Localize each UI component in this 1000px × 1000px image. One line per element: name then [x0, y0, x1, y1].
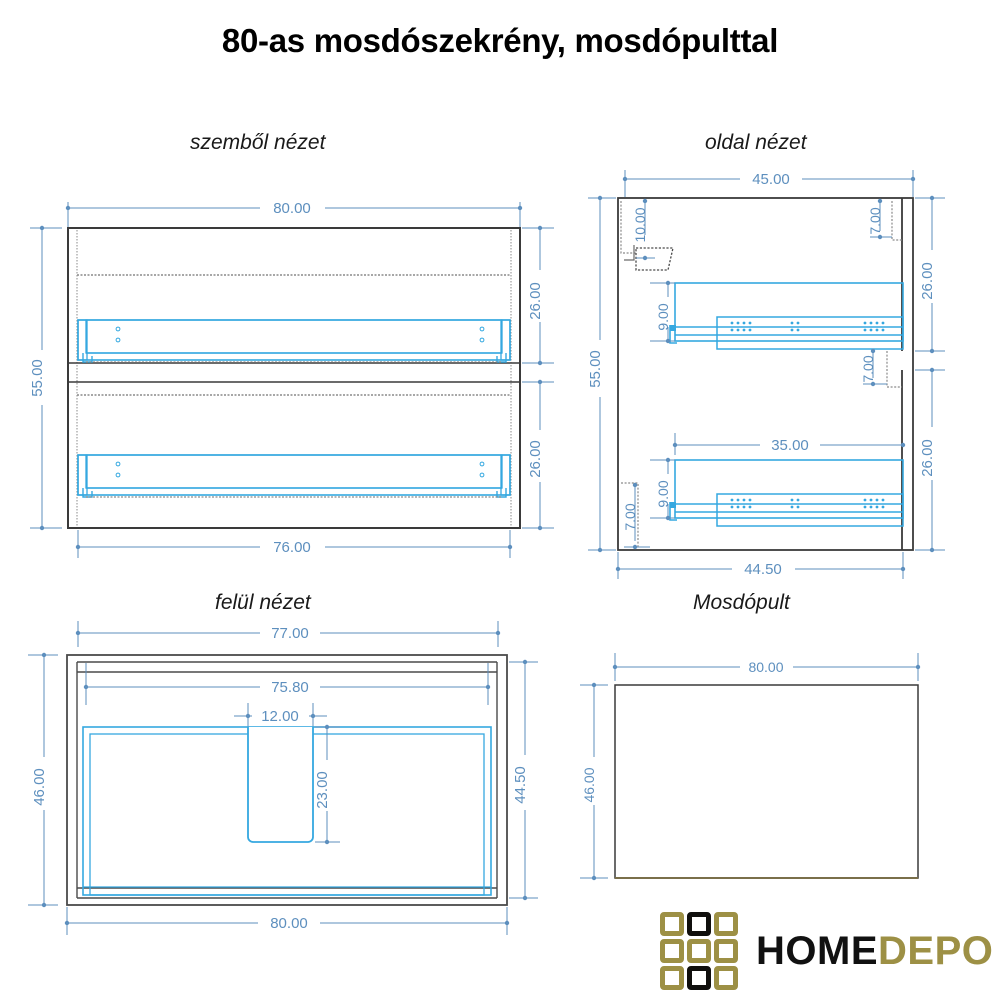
dim-value-ct-depth: 46.00: [581, 767, 597, 802]
countertop-panel: [615, 685, 918, 878]
dim-value-top-bottom-width: 80.00: [270, 915, 308, 932]
dim-value-front-drawer-lower: 26.00: [527, 440, 544, 478]
dim-front-bottom-width: 76.00: [76, 530, 512, 558]
dim-value-side-upper-slide: 9.00: [655, 303, 671, 330]
dim-value-top-right-depth: 44.50: [512, 766, 529, 804]
logo-cell-8: [687, 966, 711, 990]
front-view-drawing: 80.00 55.00: [20, 190, 560, 560]
front-cabinet-body: [68, 228, 520, 528]
logo-wordmark: HOMEDEPO: [756, 929, 993, 974]
countertop-drawing: 80.00 46.00: [570, 615, 990, 915]
logo-cell-9: [714, 966, 738, 990]
dim-value-side-section-upper: 26.00: [919, 262, 936, 300]
dim-value-ct-width: 80.00: [748, 659, 783, 675]
dim-top-right-depth: 44.50: [509, 660, 538, 900]
logo-cell-4: [660, 939, 684, 963]
dim-value-side-top-depth: 45.00: [752, 171, 790, 188]
logo-cell-2: [687, 912, 711, 936]
dim-value-side-section-lower: 26.00: [919, 439, 936, 477]
logo-cell-1: [660, 912, 684, 936]
logo-cell-6: [714, 939, 738, 963]
dim-value-top-drawer-width: 75.80: [271, 679, 309, 696]
dim-side-bottom-depth: 44.50: [616, 552, 905, 579]
dim-ct-width: 80.00: [613, 653, 920, 681]
dim-side-section-lower: 26.00: [915, 368, 945, 552]
dim-value-front-height: 55.00: [29, 359, 46, 397]
dim-side-height: 55.00: [587, 196, 616, 552]
dim-value-side-upper-right: 7.00: [867, 207, 883, 234]
page-title: 80-as mosdószekrény, mosdópulttal: [0, 22, 1000, 60]
dim-value-side-top-inset: 10.00: [632, 207, 648, 242]
logo-cell-5: [687, 939, 711, 963]
side-view-drawing: 45.00 55.00 10.00: [580, 165, 980, 590]
dim-side-top-depth: 45.00: [623, 170, 915, 197]
logo-cell-3: [714, 912, 738, 936]
dim-ct-depth: 46.00: [580, 683, 608, 880]
view-caption-top: felül nézet: [215, 591, 311, 615]
dim-value-top-left-depth: 46.00: [31, 768, 48, 806]
dim-value-top-cutout-depth: 23.00: [314, 771, 331, 809]
view-caption-countertop: Mosdópult: [693, 591, 790, 615]
dim-value-front-top-width: 80.00: [273, 200, 311, 217]
dim-value-front-bottom-width: 76.00: [273, 539, 311, 556]
dim-value-front-drawer-upper: 26.00: [527, 282, 544, 320]
dim-value-side-lower-slide: 9.00: [655, 480, 671, 507]
logo-cell-7: [660, 966, 684, 990]
dim-top-left-depth: 46.00: [28, 653, 58, 907]
dim-value-side-drawer-depth: 35.00: [771, 437, 809, 454]
logo-grid-icon: [660, 912, 738, 990]
dim-side-section-upper: 26.00: [915, 196, 945, 353]
dim-front-height: 55.00: [29, 226, 62, 530]
view-caption-side: oldal nézet: [705, 131, 807, 155]
dim-front-top-width: 80.00: [66, 200, 522, 230]
dim-value-top-cutout-width: 12.00: [261, 708, 299, 725]
dim-value-side-lower-left: 7.00: [622, 503, 638, 530]
top-sink-cutout: [248, 727, 313, 842]
dim-value-side-height: 55.00: [587, 350, 604, 388]
homedepo-logo: HOMEDEPO: [660, 908, 990, 994]
dim-top-bottom-width: 80.00: [65, 907, 509, 935]
dim-top-inner-width: 77.00: [76, 621, 500, 647]
dim-front-drawer-lower: 26.00: [522, 380, 554, 530]
view-caption-front: szemből nézet: [190, 131, 325, 155]
dim-front-drawer-upper: 26.00: [522, 226, 554, 365]
logo-text-home: HOME: [756, 929, 878, 973]
dim-value-top-inner-width: 77.00: [271, 625, 309, 642]
top-view-drawing: 77.00 46.00 75.80: [20, 615, 560, 945]
dim-value-side-mid-right: 7.00: [860, 355, 876, 382]
dim-value-side-bottom-depth: 44.50: [744, 561, 782, 578]
logo-text-depo: DEPO: [878, 929, 993, 973]
